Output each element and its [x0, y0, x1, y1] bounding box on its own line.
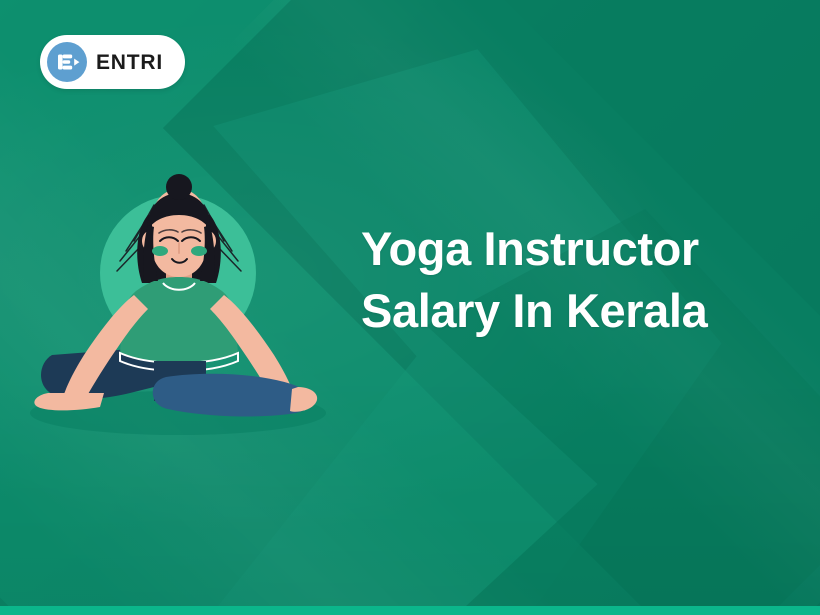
bottom-accent-strip [0, 606, 820, 615]
entri-wordmark: ENTRI [96, 52, 163, 73]
page-title-line-2: Salary In Kerala [361, 280, 791, 342]
hair-bun [166, 174, 192, 200]
woman-meditating-lotus-pose-illustration [8, 155, 348, 455]
page-title-line-1: Yoga Instructor [361, 218, 791, 280]
entri-logo[interactable]: ENTRI [40, 35, 185, 89]
entri-e-play-icon [47, 42, 87, 82]
left-cheek [152, 246, 168, 256]
right-cheek [191, 246, 207, 256]
page-title: Yoga Instructor Salary In Kerala [361, 218, 791, 342]
banner: ENTRI Yoga Instructor Salary In Kerala [0, 0, 820, 615]
